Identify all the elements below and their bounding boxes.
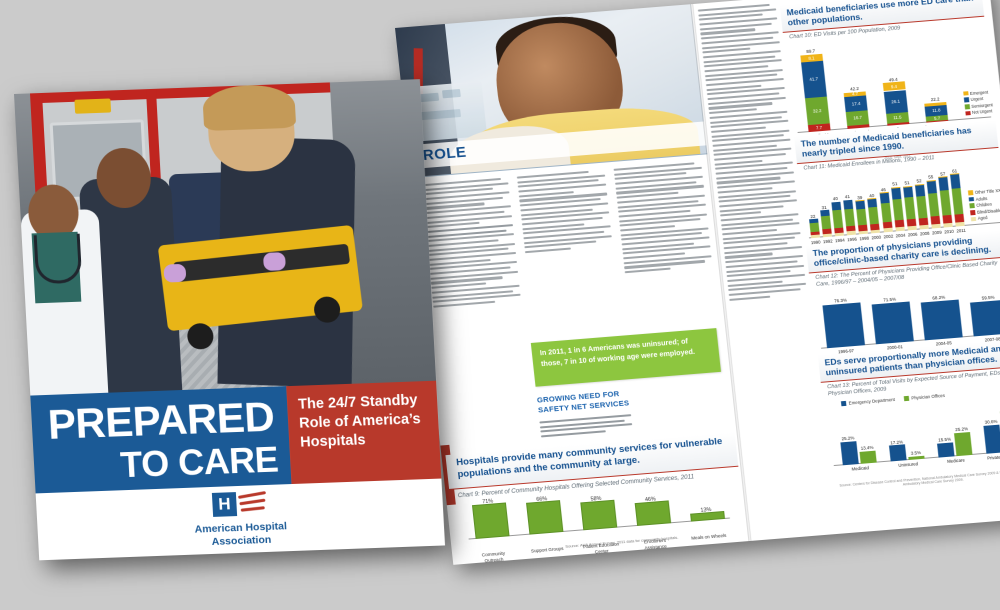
bar-segment: 11.8 — [925, 105, 948, 117]
cover-title-line2: TO CARE — [119, 441, 279, 485]
bar-segment — [858, 225, 868, 231]
bar-segment — [904, 197, 915, 219]
legend-item: Aged — [971, 214, 1000, 222]
chart13-bar — [859, 450, 876, 464]
chart-legend: EmergentUrgentSemiurgentNot Urgent — [963, 89, 994, 117]
bar-segment — [822, 229, 831, 234]
bar-segment — [882, 222, 892, 229]
bar-segment: 32.2 — [805, 96, 830, 125]
cover-subtitle: The 24/7 Standby Role of America’s Hospi… — [298, 391, 432, 453]
bar-segment — [955, 213, 965, 222]
bar-segment — [831, 201, 841, 210]
bar-segment — [895, 227, 904, 232]
bar-segment — [919, 218, 929, 226]
bar-segment: 11.5 — [886, 112, 909, 124]
logo-letter: H — [212, 492, 237, 517]
organization-name: American Hospital Association — [38, 514, 445, 554]
bar-segment — [931, 216, 941, 224]
bar-segment — [879, 192, 889, 203]
bar-segment — [944, 223, 953, 228]
chart12-block: The proportion of physicians providing o… — [806, 229, 1000, 359]
cover-subtitle-panel: The 24/7 Standby Role of America’s Hospi… — [286, 381, 441, 484]
bar-segment — [871, 229, 880, 233]
bar-segment — [843, 200, 853, 210]
bar-segment: 26.1 — [883, 90, 907, 114]
chart13-category-label: Medicaid — [836, 464, 884, 473]
chart9-bar — [526, 500, 563, 534]
bar-segment — [927, 180, 937, 194]
aha-logo-icon: H — [212, 491, 269, 519]
ambulance-paramedics-photo — [14, 79, 436, 395]
bar-segment — [832, 210, 843, 228]
bar-segment — [870, 223, 880, 230]
chart13-bar — [908, 456, 924, 460]
chart11-block: The number of Medicaid beneficiaries has… — [794, 120, 1000, 249]
stacked-bar: 7.732.241.78.1 — [800, 49, 831, 132]
legend-item: Physician Offices — [904, 393, 946, 401]
legend-item: Not Urgent — [965, 109, 993, 116]
bar-segment — [956, 222, 965, 227]
chart12-bar — [822, 302, 865, 348]
chart13-block: EDs serve proportionally more Medicaid a… — [818, 339, 1000, 476]
chart9-bar — [580, 500, 617, 531]
bar-segment — [868, 198, 878, 207]
bar-segment — [835, 232, 844, 236]
bar-segment — [820, 210, 830, 217]
bar-segment — [821, 216, 831, 230]
bar-segment: 17.4 — [844, 95, 868, 112]
bar-segment — [950, 174, 961, 190]
chart13-category-label: Medicare — [932, 456, 980, 465]
chart13-bar — [954, 432, 972, 456]
bar-segment — [906, 219, 916, 227]
chart13-bar — [937, 442, 954, 457]
open-brochure-spread: ROLE — [395, 0, 1000, 585]
bar-segment — [891, 187, 901, 200]
bar-segment — [856, 200, 866, 209]
bar-segment — [931, 224, 940, 229]
bar-segment — [883, 228, 892, 232]
bar-segment — [903, 186, 913, 198]
stacked-bar — [950, 170, 965, 226]
chart13-bar — [840, 441, 858, 465]
bar-segment — [844, 208, 855, 226]
chart13-bar — [983, 424, 1000, 453]
bar-segment — [928, 193, 940, 217]
cover-title-panel: PREPARED TO CARE — [30, 386, 291, 493]
bar-segment — [952, 188, 964, 214]
bar-segment — [809, 223, 819, 232]
chart13-value-label: 44.9% — [996, 404, 1000, 411]
chart13-category-label: Uninsured — [884, 460, 932, 469]
chart12-bar — [920, 299, 962, 340]
bar-segment — [809, 219, 818, 224]
subsection-body — [539, 414, 633, 440]
bar-segment — [943, 215, 953, 224]
bar-segment — [940, 190, 952, 215]
brochure-cover: PREPARED TO CARE The 24/7 Standby Role o… — [14, 79, 461, 594]
chart12-bar — [871, 301, 913, 344]
bar-segment — [856, 209, 867, 226]
bar-segment: 41.7 — [801, 60, 827, 98]
chart13-plot: 25.2%13.4%Medicaid17.2%3.5%Uninsured15.5… — [824, 394, 1000, 476]
bar-segment — [919, 225, 928, 229]
bar-segment — [846, 226, 856, 232]
subsection-heading: GROWING NEED FOR SAFETY NET SERVICES — [537, 388, 631, 415]
bar-segment — [869, 207, 880, 224]
cover-logo-area: H American Hospital Association — [36, 479, 445, 561]
chart9-bar — [472, 503, 510, 539]
chart9-bar — [635, 501, 671, 526]
bar-segment — [907, 226, 916, 231]
callout-text: In 2011, 1 in 6 Americans was uninsured;… — [539, 335, 711, 370]
bar-segment: 16.7 — [846, 110, 869, 126]
bar-total-label: 61 — [944, 167, 965, 174]
bar-segment — [916, 196, 927, 218]
bar-segment — [939, 177, 949, 192]
screenshot-canvas: ROLE — [0, 0, 1000, 610]
stacked-bar: 11.526.19.4 — [878, 43, 909, 126]
bar-segment — [847, 231, 856, 235]
bar-segment — [880, 203, 891, 223]
chart-legend: Other Title XXIAdultsChildrenBlind/Disab… — [968, 188, 1000, 223]
bar-segment — [892, 199, 903, 221]
chart12-bar — [970, 300, 1000, 336]
bar-segment — [894, 220, 904, 228]
bar-segment — [915, 184, 925, 196]
chart9-category-label: Community Outreach — [473, 550, 514, 565]
stacked-bar: 5.711.8 — [918, 39, 949, 122]
bar-segment — [834, 227, 844, 233]
